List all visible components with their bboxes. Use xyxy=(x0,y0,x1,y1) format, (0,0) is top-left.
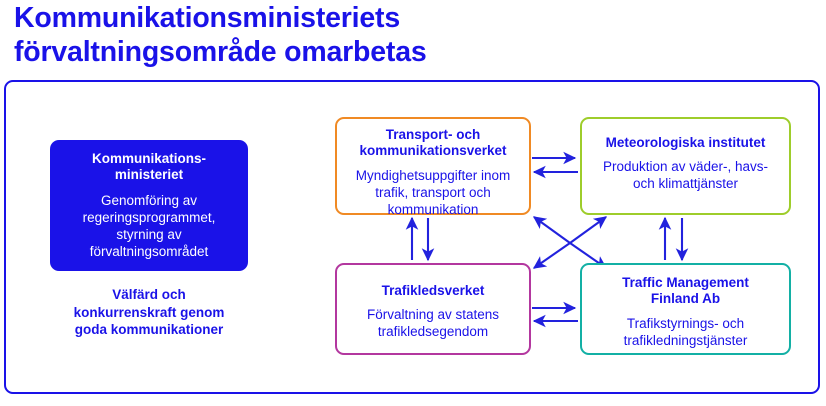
agency-tmfg-body: Trafikstyrnings- och trafikledningstjäns… xyxy=(590,315,781,349)
arrow-cross-to-vayla-corner xyxy=(534,243,570,268)
agency-box-fmi: Meteorologiska institutet Produktion av … xyxy=(580,117,791,215)
agency-tmfg-body-line-1: Trafikstyrnings- och xyxy=(590,315,781,332)
agency-traficom-body-line-3: kommunikation xyxy=(345,201,521,218)
agency-fmi-body: Produktion av väder-, havs- och klimattj… xyxy=(590,158,781,192)
agency-vayla-body: Förvaltning av statens trafikledsegendom xyxy=(345,306,521,340)
agency-box-tmfg: Traffic Management Finland Ab Trafikstyr… xyxy=(580,263,791,355)
agency-traficom-title-line-1: Transport- och xyxy=(345,127,521,143)
agency-traficom-body-line-1: Myndighetsuppgifter inom xyxy=(345,167,521,184)
agency-tmfg-body-line-2: trafikledningstjänster xyxy=(590,332,781,349)
agency-fmi-title-line-1: Meteorologiska institutet xyxy=(590,135,781,151)
arrow-cross-to-traficom-corner xyxy=(534,217,570,243)
agency-vayla-title-line-1: Trafikledsverket xyxy=(345,283,521,299)
agency-traficom-body-line-2: trafik, transport och xyxy=(345,184,521,201)
agency-traficom-title-line-2: kommunikationsverket xyxy=(345,143,521,159)
agency-traficom-body: Myndighetsuppgifter inom trafik, transpo… xyxy=(345,167,521,218)
agency-vayla-title: Trafikledsverket xyxy=(345,283,521,299)
agency-tmfg-title-line-2: Finland Ab xyxy=(590,291,781,307)
agency-fmi-body-line-2: och klimattjänster xyxy=(590,175,781,192)
agency-traficom-title: Transport- och kommunikationsverket xyxy=(345,127,521,160)
agency-vayla-body-line-2: trafikledsegendom xyxy=(345,323,521,340)
agency-fmi-title: Meteorologiska institutet xyxy=(590,135,781,151)
agency-box-traficom: Transport- och kommunikationsverket Mynd… xyxy=(335,117,531,215)
agency-tmfg-title-line-1: Traffic Management xyxy=(590,275,781,291)
agency-fmi-body-line-1: Produktion av väder-, havs- xyxy=(590,158,781,175)
arrow-cross-to-fmi-corner xyxy=(570,217,606,243)
agency-box-vayla: Trafikledsverket Förvaltning av statens … xyxy=(335,263,531,355)
agency-vayla-body-line-1: Förvaltning av statens xyxy=(345,306,521,323)
agency-tmfg-title: Traffic Management Finland Ab xyxy=(590,275,781,308)
